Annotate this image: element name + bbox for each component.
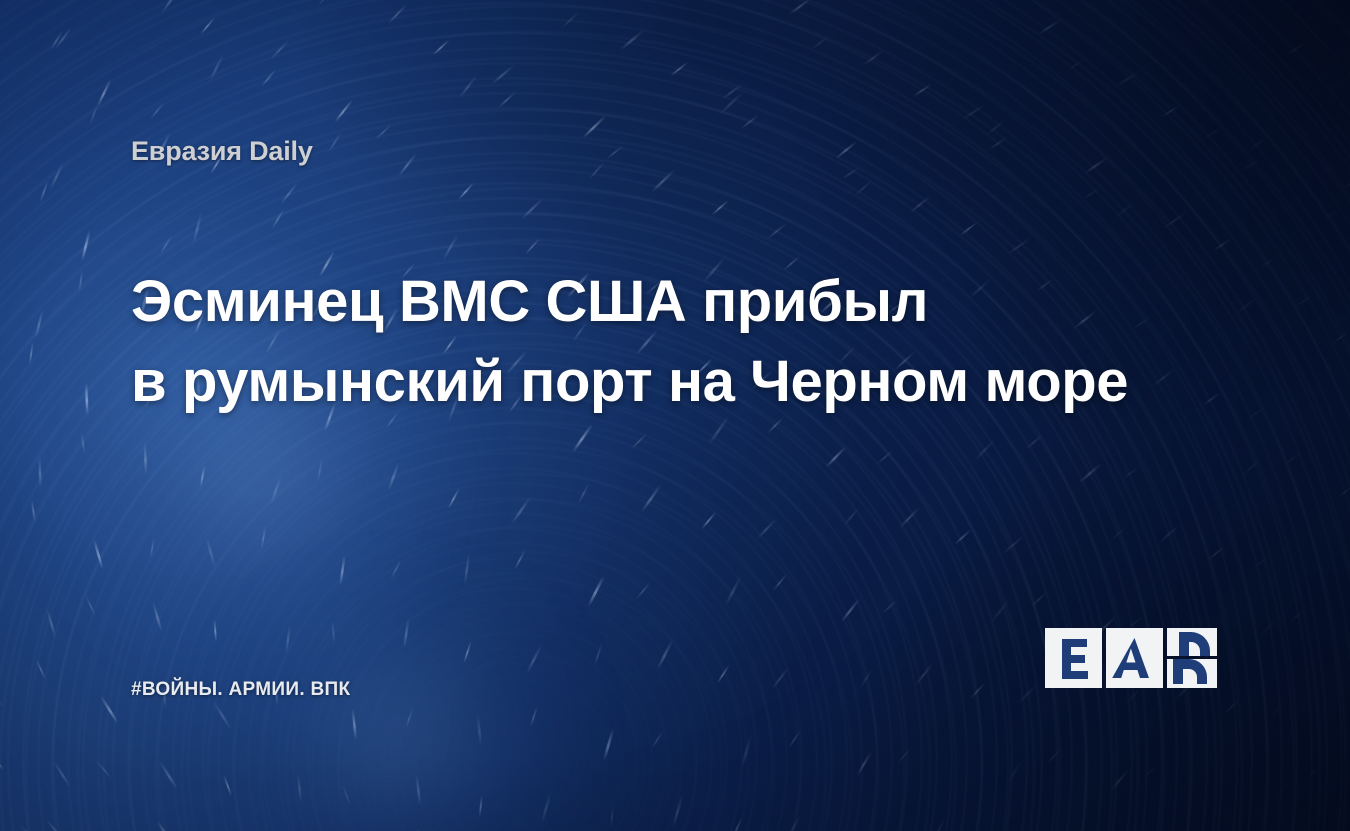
headline: Эсминец ВМС США прибыл в румынский порт … — [131, 262, 1191, 422]
category-hashtag[interactable]: #ВОЙНЫ. АРМИИ. ВПК — [131, 679, 350, 701]
headline-line-2: в румынский порт на Черном море — [131, 342, 1191, 422]
card-content: Евразия Daily Эсминец ВМС США прибыл в р… — [0, 0, 1350, 831]
news-cover-card: Евразия Daily Эсминец ВМС США прибыл в р… — [0, 0, 1350, 831]
logo-letter-e-glyph — [1062, 639, 1088, 679]
headline-line-1: Эсминец ВМС США прибыл — [131, 262, 1191, 342]
brand-wordmark[interactable]: Евразия Daily — [131, 136, 313, 167]
ead-logo[interactable] — [1045, 628, 1225, 688]
